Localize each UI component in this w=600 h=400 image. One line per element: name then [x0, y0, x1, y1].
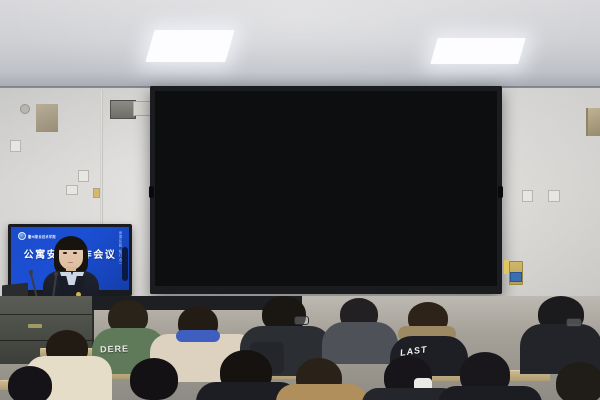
audience-person-front — [438, 386, 542, 400]
toolbar-item-window[interactable]: ▭ 小窗 — [479, 205, 494, 218]
toolbar-back-button[interactable]: 返回 — [480, 252, 494, 260]
presenter-eye-right — [73, 252, 77, 254]
motto-signature: 校训 — [475, 131, 479, 138]
audience-head — [8, 366, 52, 400]
presentation-slide: 衢州职业技术学院 QUZHOU COLLEGE OF TECHNOLOGY 尚德… — [155, 91, 497, 286]
college-emblem-icon — [177, 107, 196, 126]
wall-outlet[interactable] — [66, 185, 78, 195]
slide-title: 公寓安全工作会议 — [155, 153, 497, 197]
toolbar-label: 截屏 — [484, 240, 488, 244]
motto-column-2: 知行合一 — [459, 101, 468, 144]
presenter-fringe — [57, 238, 85, 250]
toolbar-label: 白板 — [484, 186, 488, 190]
pen-icon: ✎ — [484, 193, 489, 199]
audience-person-tan-coat — [276, 384, 368, 400]
microphone-head-left — [29, 270, 33, 274]
slide-date: 2024年12月5日 — [155, 257, 497, 269]
conference-room-scene: 衢州职业技术学院 QUZHOU COLLEGE OF TECHNOLOGY 尚德… — [0, 0, 600, 400]
wall-conduit-pipe — [100, 90, 103, 225]
toolbar-item-whiteboard[interactable]: ▤ 白板 — [479, 178, 494, 191]
ceiling-panel-light-right — [430, 38, 525, 64]
institution-name-en: QUZHOU COLLEGE OF TECHNOLOGY — [201, 121, 286, 124]
audience-person-grey-hood — [322, 322, 398, 364]
wall-framed-plaque — [36, 104, 58, 132]
wall-outlet[interactable] — [548, 190, 560, 202]
display-side-toolbar[interactable]: ▤ 白板 ✎ 批注 ▭ 小窗 ▣ 视频工具 ▦ 截屏 — [478, 175, 495, 264]
whiteboard-icon: ▤ — [484, 179, 490, 185]
main-interactive-display[interactable]: 衢州职业技术学院 QUZHOU COLLEGE OF TECHNOLOGY 尚德… — [150, 86, 502, 294]
camera-icon: ▣ — [484, 220, 490, 226]
audience-head — [130, 358, 178, 400]
institution-name-cn: 衢州职业技术学院 — [201, 109, 286, 119]
audience-area: DERE LAST — [0, 296, 600, 400]
audience-head — [556, 362, 600, 400]
wall-outlet[interactable] — [10, 140, 21, 152]
secondary-display-toolbar[interactable] — [122, 247, 128, 281]
wall-junction-box — [133, 101, 151, 116]
toolbar-item-video[interactable]: ▣ 视频工具 — [479, 219, 494, 232]
toolbar-divider — [483, 247, 490, 248]
ceiling — [0, 0, 600, 92]
glasses-icon — [294, 316, 309, 325]
presenter-eye-left — [63, 252, 67, 254]
audience-scarf — [176, 330, 220, 342]
wall-outlet[interactable] — [78, 170, 89, 182]
toolbar-item-annotate[interactable]: ✎ 批注 — [479, 192, 494, 205]
ceiling-panel-light-left — [145, 30, 234, 62]
slide-organization: 经济管理学院 — [155, 239, 497, 251]
institution-logo-text: 衢州职业技术学院 QUZHOU COLLEGE OF TECHNOLOGY — [201, 109, 286, 124]
screenshot-icon: ▦ — [484, 233, 490, 239]
college-emblem-icon-small — [18, 232, 26, 240]
cabinet-seam — [0, 314, 92, 315]
cabinet-handle[interactable] — [28, 324, 42, 328]
toolbar-label: 批注 — [484, 199, 488, 203]
jacket-text-left: DERE — [100, 343, 129, 354]
window-icon: ▭ — [484, 206, 490, 212]
wall-outlet[interactable] — [522, 190, 533, 202]
toolbar-label: 视频工具 — [482, 226, 490, 230]
microphone-head-right — [54, 272, 58, 276]
display-side-button-left[interactable] — [149, 186, 154, 198]
motto-seal-icon — [480, 135, 483, 138]
wall-control-panel-display — [510, 272, 522, 282]
wall-switch[interactable] — [93, 188, 100, 198]
toolbar-label: 小窗 — [484, 213, 488, 217]
toolbar-item-screenshot[interactable]: ▦ 截屏 — [479, 232, 494, 245]
glasses-icon — [566, 318, 582, 327]
institution-logo: 衢州职业技术学院 QUZHOU COLLEGE OF TECHNOLOGY — [177, 107, 286, 126]
wall-framed-plaque-right — [586, 108, 600, 136]
wall-sensor-icon — [20, 104, 30, 114]
display-side-button-right[interactable] — [498, 186, 503, 198]
